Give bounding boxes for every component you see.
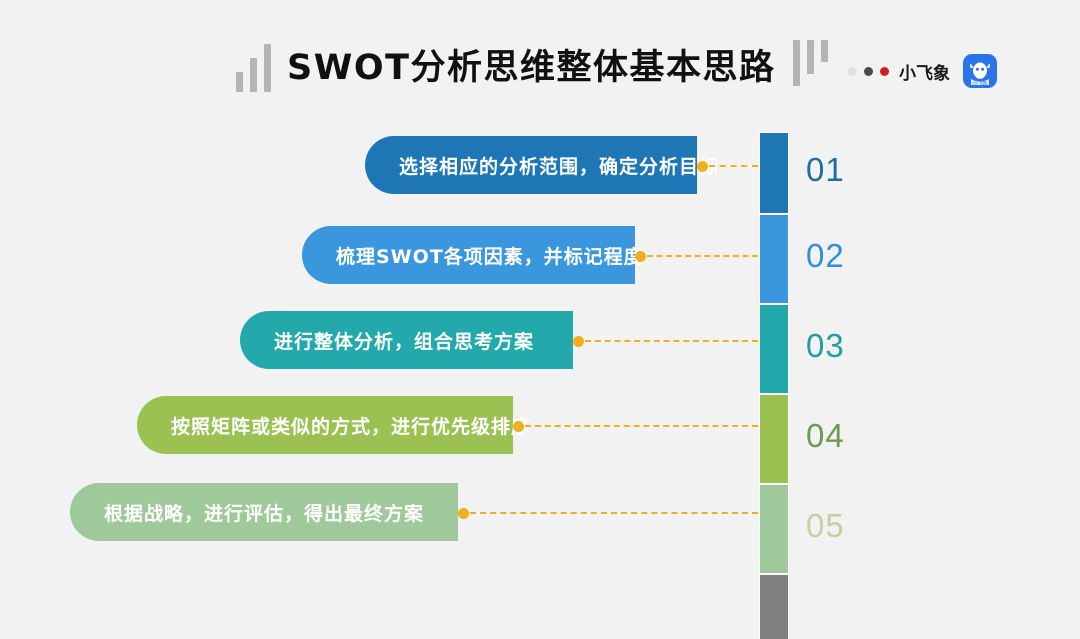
connector-node-icon: [573, 336, 584, 347]
colorbar-segment-4: [760, 395, 788, 483]
step-number-5: 05: [806, 507, 845, 545]
connector-dash-line: [585, 340, 758, 342]
connector-dash-line: [709, 165, 758, 167]
step-connector-3: [576, 340, 758, 342]
step-label-5: 根据战略，进行评估，得出最终方案: [70, 499, 450, 526]
step-number-4: 04: [806, 417, 845, 455]
step-pill-2[interactable]: 梳理SWOT各项因素，并标记程度: [302, 226, 635, 284]
connector-node-icon: [458, 508, 469, 519]
step-pill-3[interactable]: 进行整体分析，组合思考方案: [240, 311, 573, 369]
step-row-2: 梳理SWOT各项因素，并标记程度: [0, 226, 1080, 284]
colorbar-tail-segment: [760, 575, 788, 639]
step-connector-1: [700, 165, 758, 167]
connector-dash-line: [470, 512, 758, 514]
step-row-5: 根据战略，进行评估，得出最终方案: [0, 483, 1080, 541]
steps-list: 选择相应的分析范围，确定分析目标 梳理SWOT各项因素，并标记程度 进行整体分析…: [0, 0, 1080, 639]
step-label-2: 梳理SWOT各项因素，并标记程度: [302, 242, 670, 269]
step-connector-5: [461, 512, 758, 514]
colorbar-segment-5: [760, 485, 788, 573]
step-number-1: 01: [806, 151, 845, 189]
step-row-4: 按照矩阵或类似的方式，进行优先级排序: [0, 396, 1080, 454]
colorbar: [760, 133, 788, 639]
step-pill-4[interactable]: 按照矩阵或类似的方式，进行优先级排序: [137, 396, 513, 454]
step-label-1: 选择相应的分析范围，确定分析目标: [365, 152, 745, 179]
step-number-2: 02: [806, 237, 845, 275]
step-number-3: 03: [806, 327, 845, 365]
step-connector-4: [516, 425, 758, 427]
step-label-3: 进行整体分析，组合思考方案: [240, 327, 560, 354]
colorbar-segment-1: [760, 133, 788, 213]
connector-node-icon: [513, 421, 524, 432]
step-connector-2: [638, 255, 758, 257]
colorbar-segment-2: [760, 215, 788, 303]
connector-node-icon: [697, 161, 708, 172]
connector-dash-line: [525, 425, 758, 427]
colorbar-segment-3: [760, 305, 788, 393]
connector-node-icon: [635, 251, 646, 262]
step-pill-1[interactable]: 选择相应的分析范围，确定分析目标: [365, 136, 697, 194]
connector-dash-line: [647, 255, 758, 257]
step-row-1: 选择相应的分析范围，确定分析目标: [0, 136, 1080, 194]
step-row-3: 进行整体分析，组合思考方案: [0, 311, 1080, 369]
step-label-4: 按照矩阵或类似的方式，进行优先级排序: [137, 412, 557, 439]
step-pill-5[interactable]: 根据战略，进行评估，得出最终方案: [70, 483, 458, 541]
